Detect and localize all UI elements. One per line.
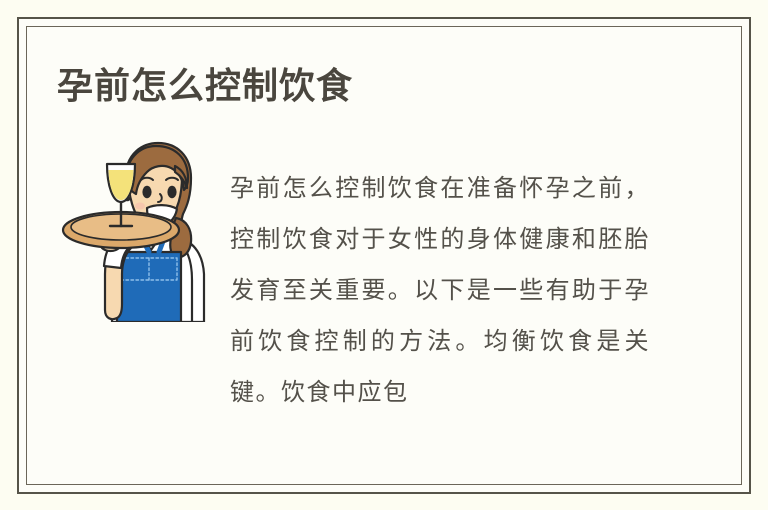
waitress-with-tray-illustration xyxy=(55,140,215,322)
poster-canvas: 孕前怎么控制饮食 xyxy=(0,0,768,510)
page-title: 孕前怎么控制饮食 xyxy=(57,64,353,107)
article-body: 孕前怎么控制饮食在准备怀孕之前，控制饮食对于女性的身体健康和胚胎发育至关重要。以… xyxy=(230,163,650,418)
